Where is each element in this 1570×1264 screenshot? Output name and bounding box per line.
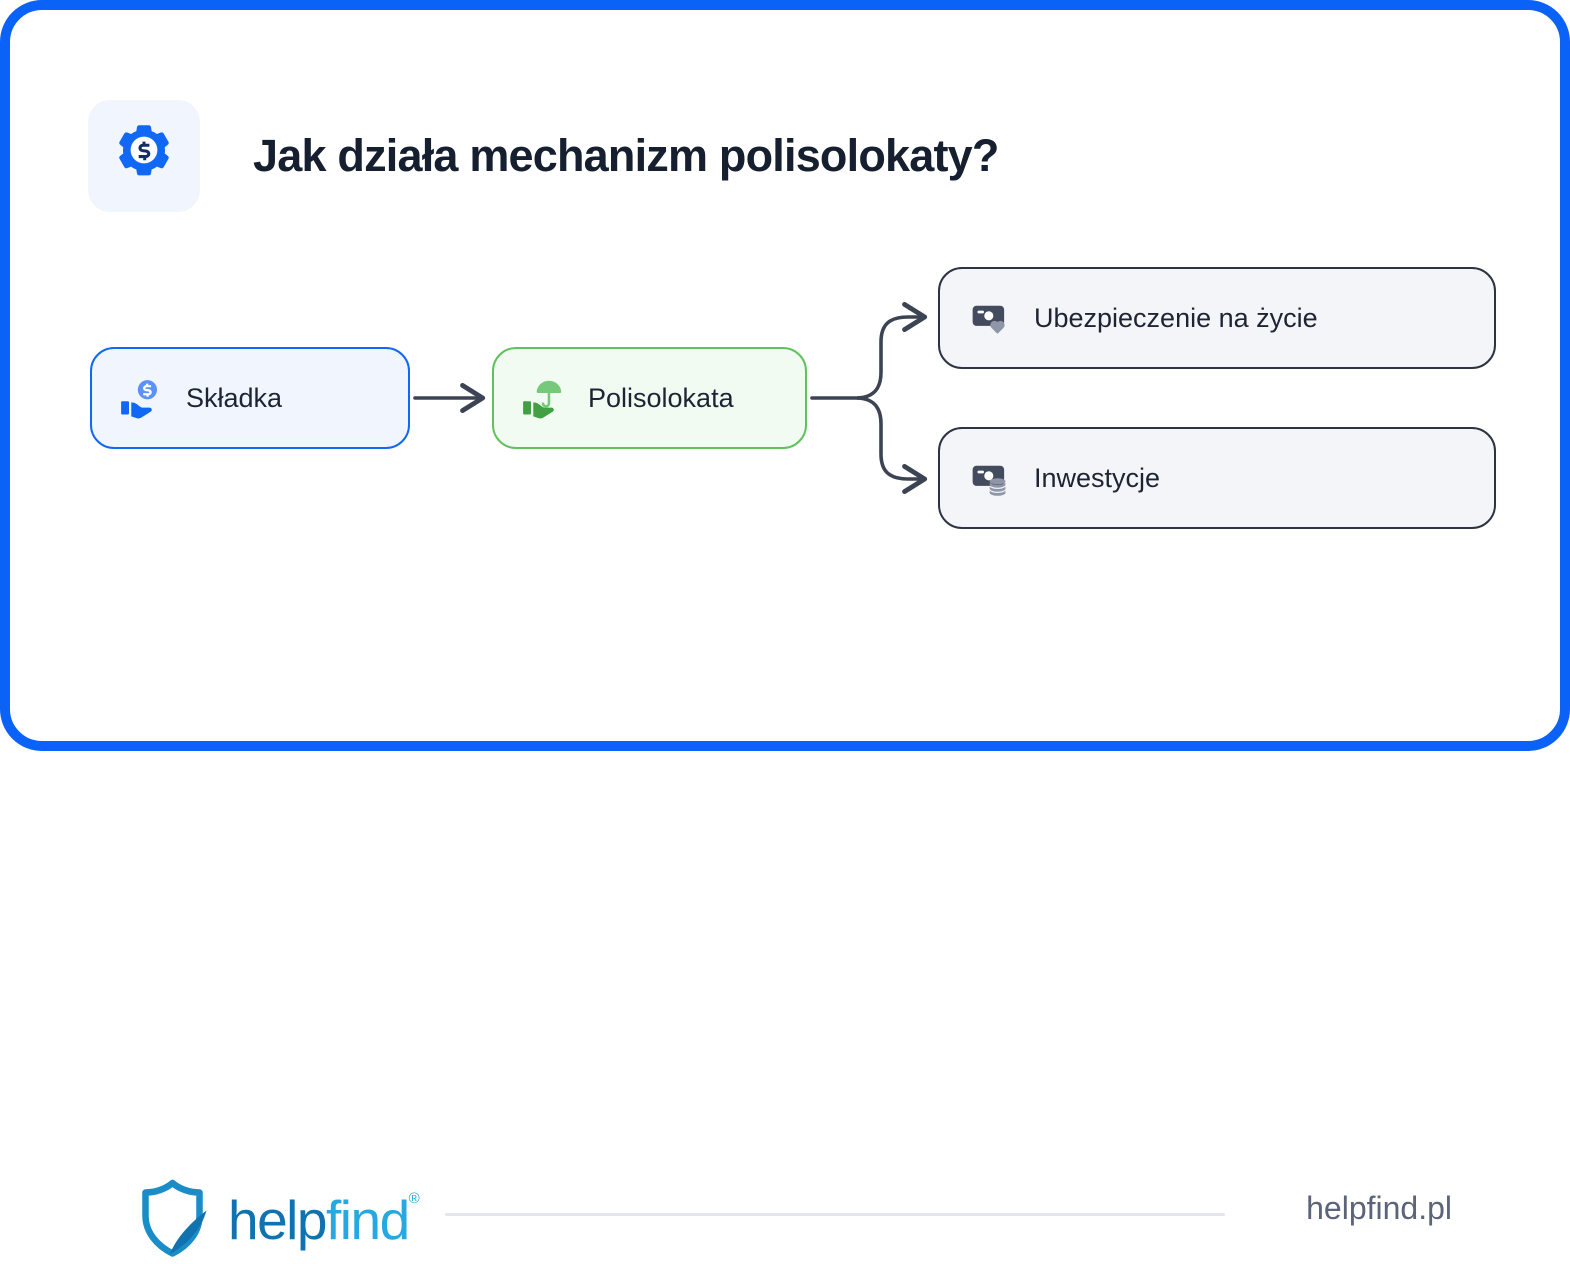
infographic-frame: Jak działa mechanizm polisolokaty?: [0, 0, 1570, 751]
flow-node-label: Ubezpieczenie na życie: [1034, 303, 1318, 334]
connector-polisolokata-to-ubezpieczenie: [858, 317, 924, 398]
wallet-coins-icon: [970, 457, 1012, 499]
connector-polisolokata-to-inwestycje: [858, 398, 924, 479]
flow-node-label: Składka: [186, 383, 282, 414]
flow-node-polisolokata[interactable]: Polisolokata: [492, 347, 807, 449]
footer: helpfind® helpfind.pl: [10, 585, 1570, 690]
footer-url: helpfind.pl: [1306, 1190, 1452, 1227]
registered-mark: ®: [409, 1191, 419, 1206]
footer-divider: [445, 1213, 1225, 1216]
brand-wordmark-help: help: [228, 1189, 326, 1251]
flow-node-label: Polisolokata: [588, 383, 734, 414]
infographic-canvas: Jak działa mechanizm polisolokaty?: [10, 10, 1570, 761]
hand-holding-umbrella-icon: [521, 376, 565, 420]
flow-node-ubezpieczenie-na-zycie[interactable]: Ubezpieczenie na życie: [938, 267, 1496, 369]
brand-logo[interactable]: helpfind®: [138, 1177, 409, 1264]
wallet-heart-icon: [970, 297, 1012, 339]
flow-node-inwestycje[interactable]: Inwestycje: [938, 427, 1496, 529]
flow-node-label: Inwestycje: [1034, 463, 1160, 494]
hand-holding-coin-icon: [119, 376, 163, 420]
brand-wordmark: helpfind®: [228, 1193, 409, 1248]
brand-wordmark-find: find: [326, 1189, 409, 1251]
flow-node-skladka[interactable]: Składka: [90, 347, 410, 449]
shield-check-icon: [138, 1177, 216, 1264]
